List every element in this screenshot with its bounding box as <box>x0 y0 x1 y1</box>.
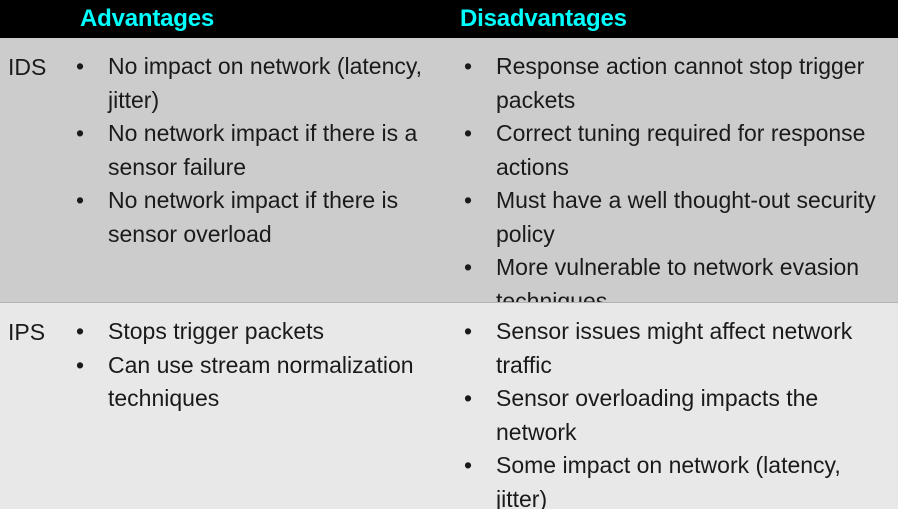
bullet-icon: • <box>76 349 96 383</box>
row-label-ips: IPS <box>8 315 70 349</box>
list-item-text: Response action cannot stop trigger pack… <box>496 50 882 117</box>
column-header-advantages: Advantages <box>80 0 214 38</box>
bullet-icon: • <box>464 251 484 285</box>
list-item-text: Can use stream normalization techniques <box>108 349 434 416</box>
ids-advantages-cell: • No impact on network (latency, jitter)… <box>74 50 434 251</box>
ids-ips-comparison-table: Advantages Disadvantages IDS • No impact… <box>0 0 898 509</box>
ids-disadvantages-cell: • Response action cannot stop trigger pa… <box>462 50 882 318</box>
column-header-disadvantages: Disadvantages <box>460 0 627 38</box>
bullet-icon: • <box>76 184 96 218</box>
list-item-text: Must have a well thought-out security po… <box>496 184 882 251</box>
list-item-text: No impact on network (latency, jitter) <box>108 50 434 117</box>
list-item-text: No network impact if there is sensor ove… <box>108 184 434 251</box>
list-item: • Correct tuning required for response a… <box>462 117 882 184</box>
bullet-icon: • <box>76 117 96 151</box>
table-row-ips: IPS • Stops trigger packets • Can use st… <box>0 302 898 509</box>
list-item-text: No network impact if there is a sensor f… <box>108 117 434 184</box>
row-label-ids: IDS <box>8 50 70 84</box>
list-item: • Stops trigger packets <box>74 315 434 349</box>
ips-advantages-cell: • Stops trigger packets • Can use stream… <box>74 315 434 416</box>
list-item: • Sensor issues might affect network tra… <box>462 315 882 382</box>
list-item: • No network impact if there is sensor o… <box>74 184 434 251</box>
list-item: • Response action cannot stop trigger pa… <box>462 50 882 117</box>
list-item-text: Sensor overloading impacts the network <box>496 382 882 449</box>
table-header-row: Advantages Disadvantages <box>0 0 898 38</box>
ips-disadvantages-cell: • Sensor issues might affect network tra… <box>462 315 882 509</box>
bullet-icon: • <box>464 315 484 349</box>
bullet-icon: • <box>464 50 484 84</box>
table-row-ids: IDS • No impact on network (latency, jit… <box>0 38 898 302</box>
list-item: • No impact on network (latency, jitter) <box>74 50 434 117</box>
bullet-icon: • <box>76 315 96 349</box>
list-item-text: Correct tuning required for response act… <box>496 117 882 184</box>
bullet-icon: • <box>464 382 484 416</box>
ids-advantages-list: • No impact on network (latency, jitter)… <box>74 50 434 251</box>
list-item-text: Sensor issues might affect network traff… <box>496 315 882 382</box>
bullet-icon: • <box>464 117 484 151</box>
bullet-icon: • <box>464 184 484 218</box>
ids-disadvantages-list: • Response action cannot stop trigger pa… <box>462 50 882 318</box>
list-item: • Some impact on network (latency, jitte… <box>462 449 882 509</box>
list-item: • Sensor overloading impacts the network <box>462 382 882 449</box>
list-item-text: Stops trigger packets <box>108 315 434 349</box>
bullet-icon: • <box>76 50 96 84</box>
list-item: • Can use stream normalization technique… <box>74 349 434 416</box>
ips-disadvantages-list: • Sensor issues might affect network tra… <box>462 315 882 509</box>
list-item: • No network impact if there is a sensor… <box>74 117 434 184</box>
list-item: • Must have a well thought-out security … <box>462 184 882 251</box>
list-item-text: Some impact on network (latency, jitter) <box>496 449 882 509</box>
bullet-icon: • <box>464 449 484 483</box>
ips-advantages-list: • Stops trigger packets • Can use stream… <box>74 315 434 416</box>
